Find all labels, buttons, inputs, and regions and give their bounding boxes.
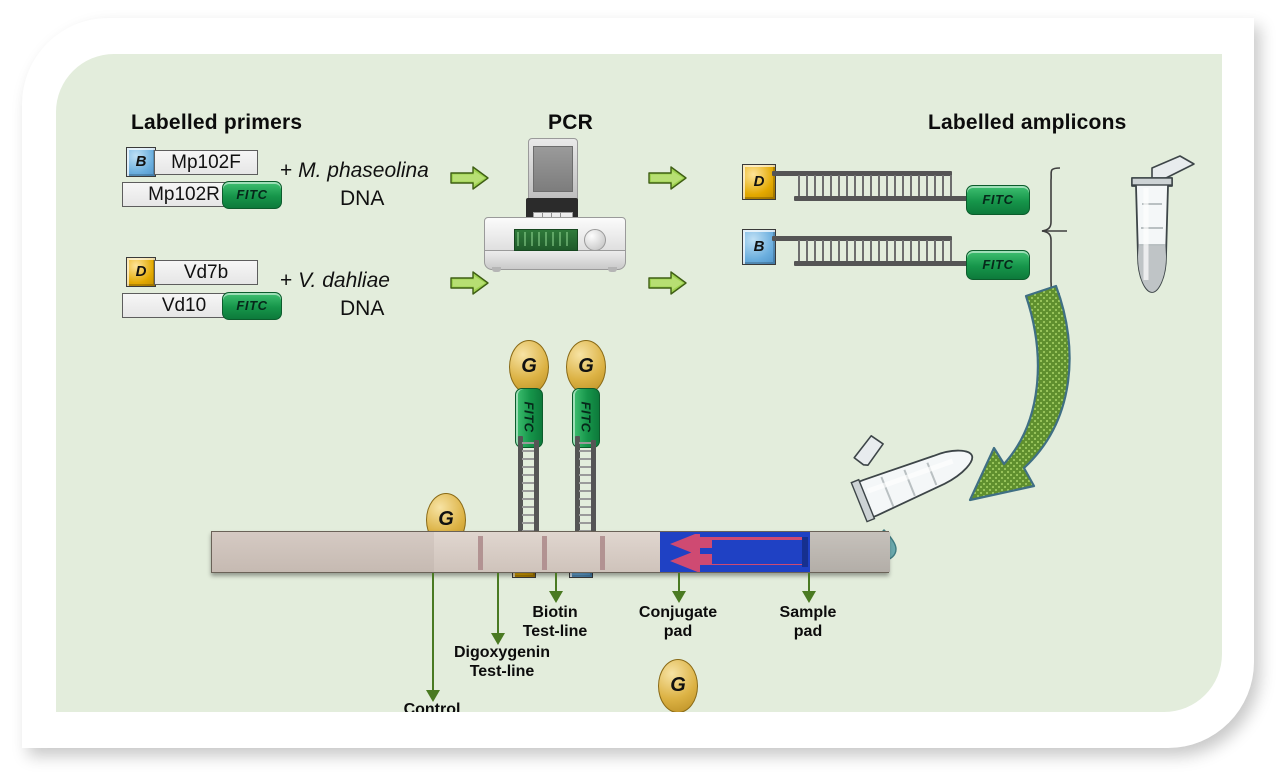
callout-arrowhead-sample xyxy=(802,591,816,603)
callout-sample-line-1: Sample xyxy=(754,603,862,622)
plus-sign-2: + xyxy=(280,269,292,292)
amplicon-fitc-1: FITC xyxy=(966,185,1030,215)
callout-digoxygenin-test-line: Digoxygenin Test-line xyxy=(422,643,582,681)
pcr-front-panel xyxy=(484,250,626,270)
gold-particle-complex-2: G xyxy=(566,340,606,394)
primer-fitc-vd10: FITC xyxy=(222,292,282,320)
callout-conjugate-line-2: pad xyxy=(616,622,740,641)
heading-labelled-amplicons: Labelled amplicons xyxy=(928,111,1127,135)
flow-arrow-out-bottom xyxy=(648,270,688,296)
callout-digoxygenin-line-2: Test-line xyxy=(422,662,582,681)
flow-arrow-out-top xyxy=(648,165,688,191)
species-vdahliae: V. dahliae xyxy=(298,269,390,292)
plus-sign-1: + xyxy=(280,159,292,182)
figure-card: Labelled primers PCR Labelled amplicons … xyxy=(22,18,1254,748)
strip-sample-pad xyxy=(810,532,890,572)
pcr-knob xyxy=(584,229,606,251)
callout-digoxygenin-line-1: Digoxygenin xyxy=(422,643,582,662)
pcr-lid-window xyxy=(533,146,573,192)
template-mphaseolina: + M. phaseolina xyxy=(280,159,429,183)
digoxygenin-test-line-band xyxy=(542,536,547,570)
control-line-band xyxy=(478,536,483,570)
callout-control-line-1: Control xyxy=(392,700,472,712)
flow-arrow-in-bottom xyxy=(450,270,490,296)
callout-arrowhead-conjugate xyxy=(672,591,686,603)
lateral-flow-test-strip xyxy=(211,531,889,573)
strip-absorbent-pad xyxy=(212,532,434,572)
flow-arrow-in-top xyxy=(450,165,490,191)
template-mphaseolina-dna: DNA xyxy=(340,187,384,211)
fitc-complex-2-label: FITC xyxy=(579,402,594,428)
heading-pcr: PCR xyxy=(548,111,593,135)
amplicon-1-base-pairs xyxy=(796,175,954,197)
callout-sample-pad: Sample pad xyxy=(754,603,862,641)
species-mphaseolina: M. phaseolina xyxy=(298,159,429,182)
callout-control-line: Control line xyxy=(392,700,472,712)
heading-labelled-primers: Labelled primers xyxy=(131,111,302,135)
callout-biotin-line-2: Test-line xyxy=(490,622,620,641)
pcr-foot-left xyxy=(492,267,501,272)
amplicon-1-bottom-strand xyxy=(794,196,974,201)
biotin-test-line-band xyxy=(600,536,605,570)
amplicon-2-base-pairs xyxy=(796,240,954,262)
callout-conjugate-pad: Conjugate pad xyxy=(616,603,740,641)
primer-tag-digoxygenin: D xyxy=(126,257,156,287)
primer-bar-vd7b: Vd7b xyxy=(154,260,258,285)
template-vdahliae-dna: DNA xyxy=(340,297,384,321)
primer-bar-mp102f: Mp102F xyxy=(154,150,258,175)
conjugate-pad-arrow xyxy=(660,534,810,572)
figure-canvas: Labelled primers PCR Labelled amplicons … xyxy=(56,54,1222,712)
callout-arrowhead-biotin xyxy=(549,591,563,603)
callout-biotin-line-1: Biotin xyxy=(490,603,620,622)
eppendorf-tube-upright xyxy=(1102,152,1202,322)
callout-sample-line-2: pad xyxy=(754,622,862,641)
amplicon-tag-biotin: B xyxy=(742,229,776,265)
gold-particle-conjugate-pad: G xyxy=(658,659,698,712)
callout-conjugate-line-1: Conjugate xyxy=(616,603,740,622)
pcr-display-traces xyxy=(517,232,573,246)
gold-particle-complex-1: G xyxy=(509,340,549,394)
amplicon-tag-digoxygenin: D xyxy=(742,164,776,200)
template-vdahliae: + V. dahliae xyxy=(280,269,390,293)
amplicon-2-bottom-strand xyxy=(794,261,974,266)
pcr-foot-right xyxy=(608,267,617,272)
primer-tag-biotin: B xyxy=(126,147,156,177)
primer-fitc-mp102r: FITC xyxy=(222,181,282,209)
callout-biotin-test-line: Biotin Test-line xyxy=(490,603,620,641)
fitc-complex-1-label: FITC xyxy=(522,402,537,428)
